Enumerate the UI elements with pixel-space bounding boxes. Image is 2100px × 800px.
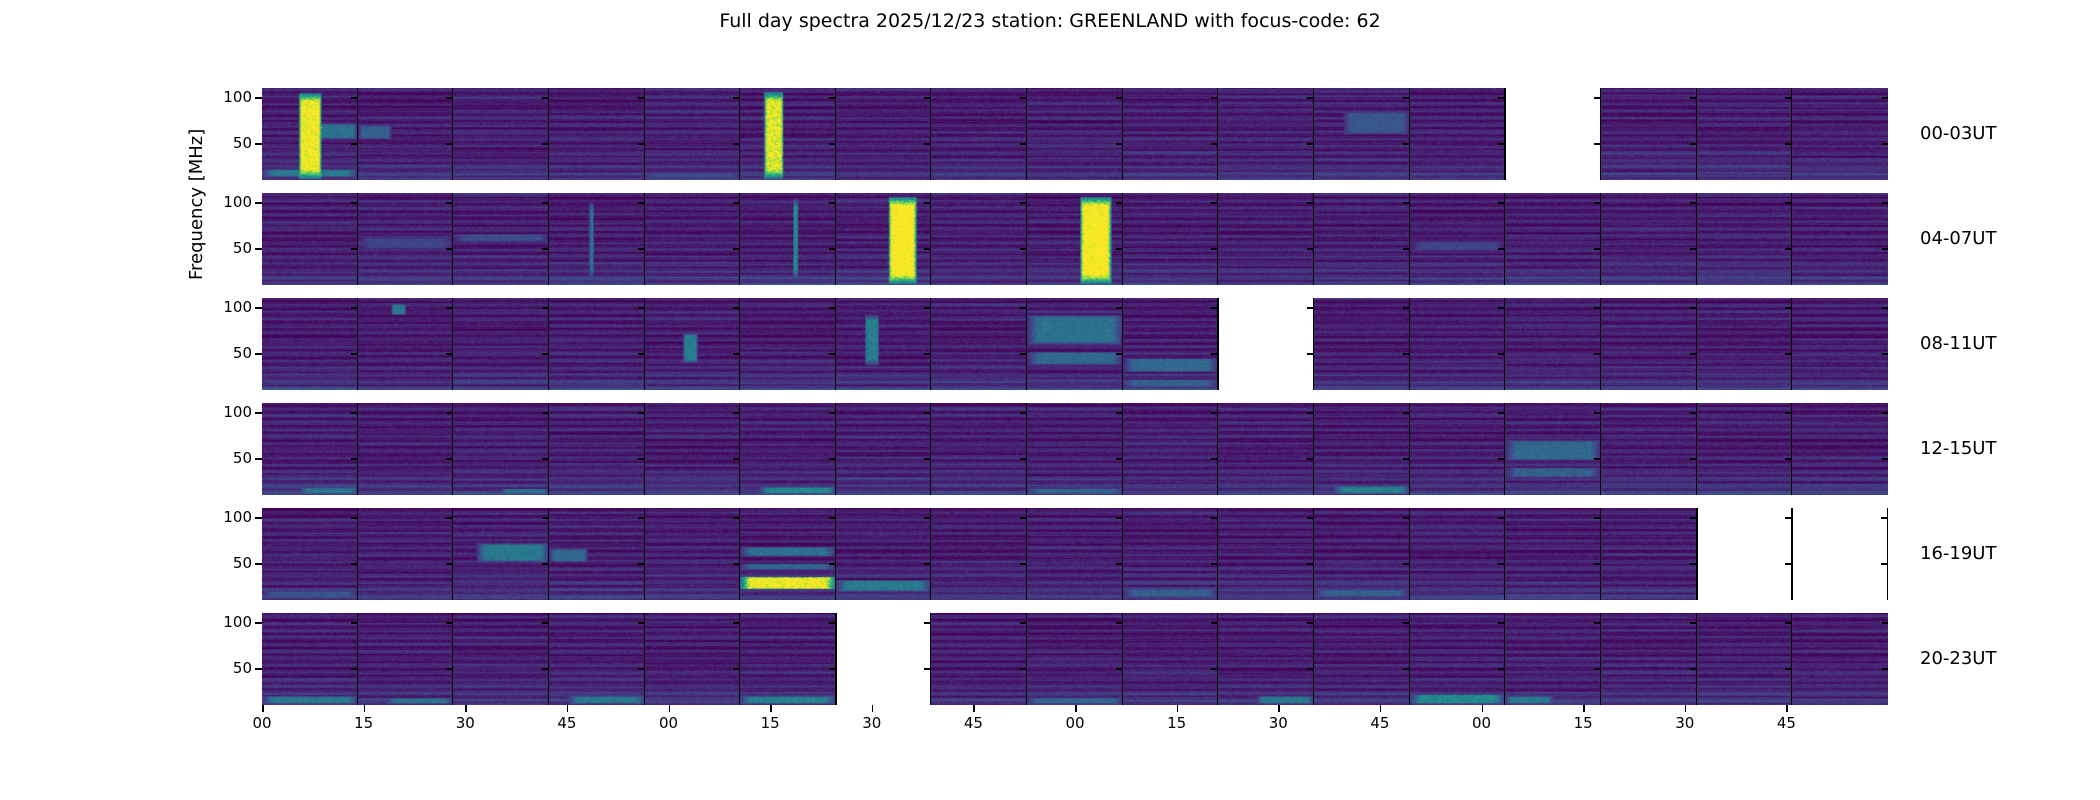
missing-data-panel xyxy=(1697,508,1793,600)
spectrogram-subpanel xyxy=(645,298,741,390)
y-tick-mark xyxy=(255,622,262,624)
y-tick-mark xyxy=(255,668,262,670)
spectrogram-subpanel xyxy=(1792,88,1888,180)
spectrogram-subpanel xyxy=(1314,88,1410,180)
y-tick-mark xyxy=(1881,563,1888,565)
spectrogram-subpanel xyxy=(453,193,549,285)
y-tick-mark xyxy=(733,412,740,414)
spectrogram-canvas xyxy=(1218,193,1313,285)
spectrogram-canvas xyxy=(1314,298,1409,390)
spectrogram-canvas xyxy=(1027,613,1122,705)
row-plot xyxy=(262,88,1888,180)
y-tick-label: 50 xyxy=(196,556,252,571)
y-tick-mark xyxy=(542,248,549,250)
y-tick-label: 100 xyxy=(196,510,252,525)
spectrogram-subpanel xyxy=(931,403,1027,495)
y-tick-mark xyxy=(1020,668,1027,670)
y-tick-mark xyxy=(351,202,358,204)
spectrogram-subpanel xyxy=(1792,403,1888,495)
y-tick-mark xyxy=(446,412,453,414)
y-tick-mark xyxy=(1020,517,1027,519)
spectrogram-subpanel xyxy=(549,88,645,180)
spectrogram-canvas xyxy=(645,193,740,285)
y-tick-mark xyxy=(1594,202,1601,204)
y-tick-mark xyxy=(1307,143,1314,145)
y-tick-mark xyxy=(1307,412,1314,414)
x-tick-mark xyxy=(1075,705,1077,712)
x-tick-mark xyxy=(1786,705,1788,712)
y-tick-mark xyxy=(1785,622,1792,624)
spectrogram-subpanel xyxy=(358,88,454,180)
y-tick-mark xyxy=(1020,97,1027,99)
spectrogram-canvas xyxy=(1027,88,1122,180)
x-tick-label: 30 xyxy=(852,716,892,731)
y-tick-mark xyxy=(542,353,549,355)
spectrogram-subpanel xyxy=(1410,508,1506,600)
spectrogram-subpanel xyxy=(1792,298,1888,390)
spectrogram-canvas xyxy=(1123,88,1218,180)
spectrogram-subpanel xyxy=(262,193,358,285)
y-tick-mark xyxy=(1785,143,1792,145)
spectrogram-subpanel xyxy=(740,508,836,600)
spectrogram-subpanel xyxy=(1027,403,1123,495)
y-tick-mark xyxy=(1881,517,1888,519)
spectrogram-canvas xyxy=(549,88,644,180)
y-tick-mark xyxy=(1211,248,1218,250)
x-tick-mark xyxy=(1685,705,1687,712)
spectrogram-subpanel xyxy=(1410,613,1506,705)
missing-data-panel xyxy=(1218,298,1314,390)
y-tick-mark xyxy=(924,622,931,624)
spectrogram-subpanel xyxy=(1410,298,1506,390)
spectrogram-canvas xyxy=(931,298,1026,390)
spectrogram-subpanel xyxy=(1314,508,1410,600)
y-tick-mark xyxy=(638,143,645,145)
spectrogram-subpanel xyxy=(1697,88,1793,180)
y-tick-mark xyxy=(351,97,358,99)
spectrogram-canvas xyxy=(549,613,644,705)
spectrogram-subpanel xyxy=(931,88,1027,180)
y-tick-mark xyxy=(351,248,358,250)
y-tick-mark xyxy=(1020,563,1027,565)
y-tick-mark xyxy=(1116,143,1123,145)
y-tick-mark xyxy=(255,458,262,460)
y-tick-mark xyxy=(638,668,645,670)
y-tick-mark xyxy=(733,458,740,460)
spectrogram-row-08-11ut xyxy=(262,298,1888,390)
y-tick-mark xyxy=(924,143,931,145)
row-plot xyxy=(262,298,1888,390)
x-tick-mark xyxy=(1583,705,1585,712)
spectrogram-figure: Full day spectra 2025/12/23 station: GRE… xyxy=(0,0,2100,800)
spectrogram-subpanel xyxy=(1505,193,1601,285)
spectrogram-canvas xyxy=(1410,613,1505,705)
y-tick-mark xyxy=(1020,622,1027,624)
y-tick-mark xyxy=(1116,458,1123,460)
y-tick-mark xyxy=(638,202,645,204)
y-tick-mark xyxy=(1020,143,1027,145)
y-tick-mark xyxy=(1594,458,1601,460)
spectrogram-subpanel xyxy=(262,613,358,705)
spectrogram-canvas xyxy=(453,403,548,495)
spectrogram-canvas xyxy=(931,88,1026,180)
y-tick-mark xyxy=(1498,622,1505,624)
y-axis-label: Frequency [MHz] xyxy=(186,256,207,280)
spectrogram-row-12-15ut xyxy=(262,403,1888,495)
y-tick-label: 50 xyxy=(196,661,252,676)
y-tick-mark xyxy=(1020,307,1027,309)
y-tick-mark xyxy=(638,563,645,565)
y-tick-mark xyxy=(1307,668,1314,670)
y-tick-mark xyxy=(1882,97,1888,99)
y-tick-mark xyxy=(1307,563,1314,565)
x-tick-mark xyxy=(973,705,975,712)
y-tick-mark xyxy=(351,517,358,519)
x-tick-mark xyxy=(770,705,772,712)
y-tick-mark xyxy=(1882,353,1888,355)
y-tick-mark xyxy=(733,353,740,355)
y-tick-mark xyxy=(1403,622,1410,624)
y-tick-mark xyxy=(1690,97,1697,99)
y-tick-mark xyxy=(1882,202,1888,204)
y-axis-label-text: Frequency [MHz] xyxy=(186,256,207,280)
spectrogram-subpanel xyxy=(1218,508,1314,600)
y-tick-mark xyxy=(829,202,836,204)
spectrogram-subpanel xyxy=(1697,298,1793,390)
spectrogram-canvas xyxy=(931,403,1026,495)
x-tick-label: 15 xyxy=(1563,716,1603,731)
x-tick-label: 00 xyxy=(242,716,282,731)
spectrogram-canvas xyxy=(549,193,644,285)
figure-title: Full day spectra 2025/12/23 station: GRE… xyxy=(0,10,2100,32)
spectrogram-canvas xyxy=(740,193,835,285)
spectrogram-subpanel xyxy=(1697,613,1793,705)
spectrogram-subpanel xyxy=(549,508,645,600)
spectrogram-subpanel xyxy=(931,298,1027,390)
x-tick-label: 30 xyxy=(1665,716,1705,731)
spectrogram-subpanel xyxy=(740,613,836,705)
y-tick-mark xyxy=(1690,563,1697,565)
y-tick-mark xyxy=(733,517,740,519)
spectrogram-canvas xyxy=(1027,298,1122,390)
spectrogram-subpanel xyxy=(1123,88,1219,180)
x-tick-mark xyxy=(872,705,874,712)
spectrogram-canvas xyxy=(453,88,548,180)
spectrogram-subpanel xyxy=(262,403,358,495)
spectrogram-canvas xyxy=(453,193,548,285)
spectrogram-subpanel xyxy=(453,298,549,390)
y-tick-mark xyxy=(638,622,645,624)
x-tick-label: 45 xyxy=(953,716,993,731)
y-tick-mark xyxy=(829,143,836,145)
spectrogram-canvas xyxy=(1027,508,1122,600)
y-tick-label: 50 xyxy=(196,451,252,466)
x-tick-label: 30 xyxy=(445,716,485,731)
row-label-20-23ut: 20-23UT xyxy=(1920,650,1996,668)
spectrogram-canvas xyxy=(1792,298,1888,390)
spectrogram-canvas xyxy=(1505,193,1600,285)
y-tick-mark xyxy=(542,563,549,565)
spectrogram-row-20-23ut xyxy=(262,613,1888,705)
y-tick-mark xyxy=(1882,412,1888,414)
y-tick-mark xyxy=(924,668,931,670)
y-tick-mark xyxy=(1403,517,1410,519)
y-tick-mark xyxy=(924,517,931,519)
x-tick-label: 00 xyxy=(649,716,689,731)
x-tick-mark xyxy=(1278,705,1280,712)
spectrogram-canvas xyxy=(836,403,931,495)
y-tick-mark xyxy=(1307,307,1314,309)
y-tick-mark xyxy=(542,412,549,414)
spectrogram-subpanel xyxy=(1601,613,1697,705)
y-tick-mark xyxy=(1498,563,1505,565)
y-tick-mark xyxy=(446,202,453,204)
spectrogram-canvas xyxy=(1314,508,1409,600)
x-tick-label: 00 xyxy=(1462,716,1502,731)
y-tick-mark xyxy=(1785,412,1792,414)
spectrogram-subpanel xyxy=(1218,193,1314,285)
x-tick-label: 45 xyxy=(547,716,587,731)
y-tick-mark xyxy=(1211,412,1218,414)
y-tick-mark xyxy=(1594,97,1601,99)
y-tick-mark xyxy=(351,563,358,565)
spectrogram-canvas xyxy=(1697,193,1792,285)
spectrogram-canvas xyxy=(262,613,357,705)
y-tick-mark xyxy=(1594,622,1601,624)
spectrogram-subpanel xyxy=(1697,403,1793,495)
spectrogram-subpanel xyxy=(836,508,932,600)
row-label-04-07ut: 04-07UT xyxy=(1920,230,1996,248)
y-tick-mark xyxy=(733,668,740,670)
y-tick-mark xyxy=(446,458,453,460)
y-tick-mark xyxy=(1690,307,1697,309)
y-tick-label: 100 xyxy=(196,405,252,420)
y-tick-mark xyxy=(1882,307,1888,309)
spectrogram-subpanel xyxy=(836,193,932,285)
spectrogram-canvas xyxy=(1505,298,1600,390)
y-tick-mark xyxy=(542,202,549,204)
spectrogram-canvas xyxy=(740,298,835,390)
spectrogram-canvas xyxy=(1123,403,1218,495)
y-tick-mark xyxy=(1211,353,1218,355)
spectrogram-subpanel xyxy=(549,298,645,390)
y-tick-mark xyxy=(1211,668,1218,670)
spectrogram-canvas xyxy=(358,193,453,285)
spectrogram-canvas xyxy=(740,613,835,705)
y-tick-mark xyxy=(351,458,358,460)
spectrogram-subpanel xyxy=(1601,88,1697,180)
y-tick-mark xyxy=(638,248,645,250)
y-tick-mark xyxy=(1498,353,1505,355)
y-tick-mark xyxy=(446,622,453,624)
spectrogram-subpanel xyxy=(453,88,549,180)
spectrogram-subpanel xyxy=(931,193,1027,285)
y-tick-mark xyxy=(446,307,453,309)
spectrogram-subpanel xyxy=(358,193,454,285)
spectrogram-subpanel xyxy=(262,508,358,600)
spectrogram-canvas xyxy=(1697,403,1792,495)
spectrogram-canvas xyxy=(1027,193,1122,285)
spectrogram-canvas xyxy=(358,403,453,495)
y-tick-mark xyxy=(1307,622,1314,624)
spectrogram-canvas xyxy=(645,298,740,390)
y-tick-label: 50 xyxy=(196,241,252,256)
y-tick-mark xyxy=(1211,563,1218,565)
y-tick-mark xyxy=(1690,202,1697,204)
spectrogram-subpanel xyxy=(1123,298,1219,390)
spectrogram-canvas xyxy=(740,508,835,600)
spectrogram-canvas xyxy=(358,613,453,705)
x-tick-mark xyxy=(567,705,569,712)
x-tick-mark xyxy=(465,705,467,712)
y-tick-mark xyxy=(446,668,453,670)
x-tick-label: 00 xyxy=(1055,716,1095,731)
y-tick-mark xyxy=(733,307,740,309)
y-tick-mark xyxy=(1498,517,1505,519)
y-tick-mark xyxy=(829,668,836,670)
y-tick-mark xyxy=(1020,202,1027,204)
y-tick-mark xyxy=(1594,248,1601,250)
spectrogram-canvas xyxy=(1218,613,1313,705)
spectrogram-subpanel xyxy=(358,403,454,495)
y-tick-mark xyxy=(638,412,645,414)
row-plot xyxy=(262,613,1888,705)
y-tick-mark xyxy=(1785,248,1792,250)
y-tick-mark xyxy=(924,353,931,355)
y-tick-label: 100 xyxy=(196,615,252,630)
y-tick-mark xyxy=(1403,668,1410,670)
y-tick-mark xyxy=(1594,143,1601,145)
y-tick-mark xyxy=(1498,668,1505,670)
spectrogram-canvas xyxy=(645,403,740,495)
y-tick-mark xyxy=(446,97,453,99)
spectrogram-canvas xyxy=(1314,613,1409,705)
y-tick-mark xyxy=(1785,458,1792,460)
spectrogram-canvas xyxy=(1505,403,1600,495)
y-tick-mark xyxy=(1594,353,1601,355)
y-tick-mark xyxy=(1211,97,1218,99)
spectrogram-canvas xyxy=(1792,403,1888,495)
y-tick-mark xyxy=(1882,668,1888,670)
spectrogram-subpanel xyxy=(549,613,645,705)
spectrogram-canvas xyxy=(1601,403,1696,495)
spectrogram-canvas xyxy=(931,508,1026,600)
x-tick-label: 15 xyxy=(1157,716,1197,731)
y-tick-mark xyxy=(255,353,262,355)
spectrogram-subpanel xyxy=(836,298,932,390)
y-tick-mark xyxy=(733,143,740,145)
y-tick-mark xyxy=(1116,517,1123,519)
y-tick-mark xyxy=(1498,307,1505,309)
spectrogram-canvas xyxy=(1218,508,1313,600)
y-tick-mark xyxy=(1690,412,1697,414)
spectrogram-subpanel xyxy=(1505,298,1601,390)
spectrogram-canvas xyxy=(358,298,453,390)
y-tick-mark xyxy=(1403,458,1410,460)
y-tick-mark xyxy=(351,143,358,145)
y-tick-mark xyxy=(1785,517,1792,519)
spectrogram-subpanel xyxy=(1314,193,1410,285)
y-tick-mark xyxy=(1403,202,1410,204)
missing-data-panel xyxy=(1505,88,1601,180)
spectrogram-canvas xyxy=(1697,613,1792,705)
spectrogram-subpanel xyxy=(549,403,645,495)
y-tick-mark xyxy=(1690,143,1697,145)
spectrogram-canvas xyxy=(645,508,740,600)
y-tick-mark xyxy=(1403,248,1410,250)
spectrogram-canvas xyxy=(1601,613,1696,705)
spectrogram-canvas xyxy=(836,298,931,390)
spectrogram-canvas xyxy=(1410,298,1505,390)
y-tick-mark xyxy=(1498,458,1505,460)
y-tick-mark xyxy=(1594,307,1601,309)
y-tick-mark xyxy=(542,668,549,670)
y-tick-mark xyxy=(542,622,549,624)
spectrogram-canvas xyxy=(836,193,931,285)
spectrogram-canvas xyxy=(549,298,644,390)
spectrogram-subpanel xyxy=(1505,613,1601,705)
spectrogram-canvas xyxy=(262,298,357,390)
spectrogram-canvas xyxy=(931,613,1026,705)
spectrogram-canvas xyxy=(1027,403,1122,495)
y-tick-mark xyxy=(924,307,931,309)
x-tick-mark xyxy=(364,705,366,712)
y-tick-mark xyxy=(1785,563,1792,565)
y-tick-label: 50 xyxy=(196,346,252,361)
spectrogram-subpanel xyxy=(1218,613,1314,705)
missing-data-panel xyxy=(836,613,932,705)
y-tick-mark xyxy=(733,202,740,204)
spectrogram-subpanel xyxy=(1601,403,1697,495)
x-tick-mark xyxy=(262,705,264,712)
y-tick-mark xyxy=(1307,248,1314,250)
y-tick-mark xyxy=(1882,458,1888,460)
y-tick-mark xyxy=(1690,517,1697,519)
spectrogram-subpanel xyxy=(1601,193,1697,285)
y-tick-mark xyxy=(255,517,262,519)
y-tick-mark xyxy=(1882,622,1888,624)
y-tick-mark xyxy=(1785,668,1792,670)
y-tick-mark xyxy=(1020,458,1027,460)
spectrogram-subpanel xyxy=(1314,403,1410,495)
spectrogram-subpanel xyxy=(1027,88,1123,180)
y-tick-mark xyxy=(1307,458,1314,460)
y-tick-mark xyxy=(829,458,836,460)
y-tick-mark xyxy=(924,97,931,99)
y-tick-mark xyxy=(1403,563,1410,565)
spectrogram-canvas xyxy=(1410,88,1505,180)
spectrogram-subpanel xyxy=(1505,508,1601,600)
y-tick-mark xyxy=(1498,97,1505,99)
spectrogram-subpanel xyxy=(1601,298,1697,390)
y-tick-mark xyxy=(446,143,453,145)
spectrogram-subpanel xyxy=(1314,298,1410,390)
y-tick-mark xyxy=(1116,668,1123,670)
y-tick-mark xyxy=(829,353,836,355)
spectrogram-canvas xyxy=(1314,403,1409,495)
spectrogram-canvas xyxy=(1218,403,1313,495)
spectrogram-subpanel xyxy=(358,508,454,600)
x-tick-mark xyxy=(1177,705,1179,712)
row-label-12-15ut: 12-15UT xyxy=(1920,440,1996,458)
y-tick-mark xyxy=(733,248,740,250)
spectrogram-canvas xyxy=(836,88,931,180)
y-tick-mark xyxy=(1116,202,1123,204)
y-tick-mark xyxy=(1211,458,1218,460)
spectrogram-subpanel xyxy=(358,298,454,390)
y-tick-mark xyxy=(829,412,836,414)
y-tick-mark xyxy=(351,668,358,670)
